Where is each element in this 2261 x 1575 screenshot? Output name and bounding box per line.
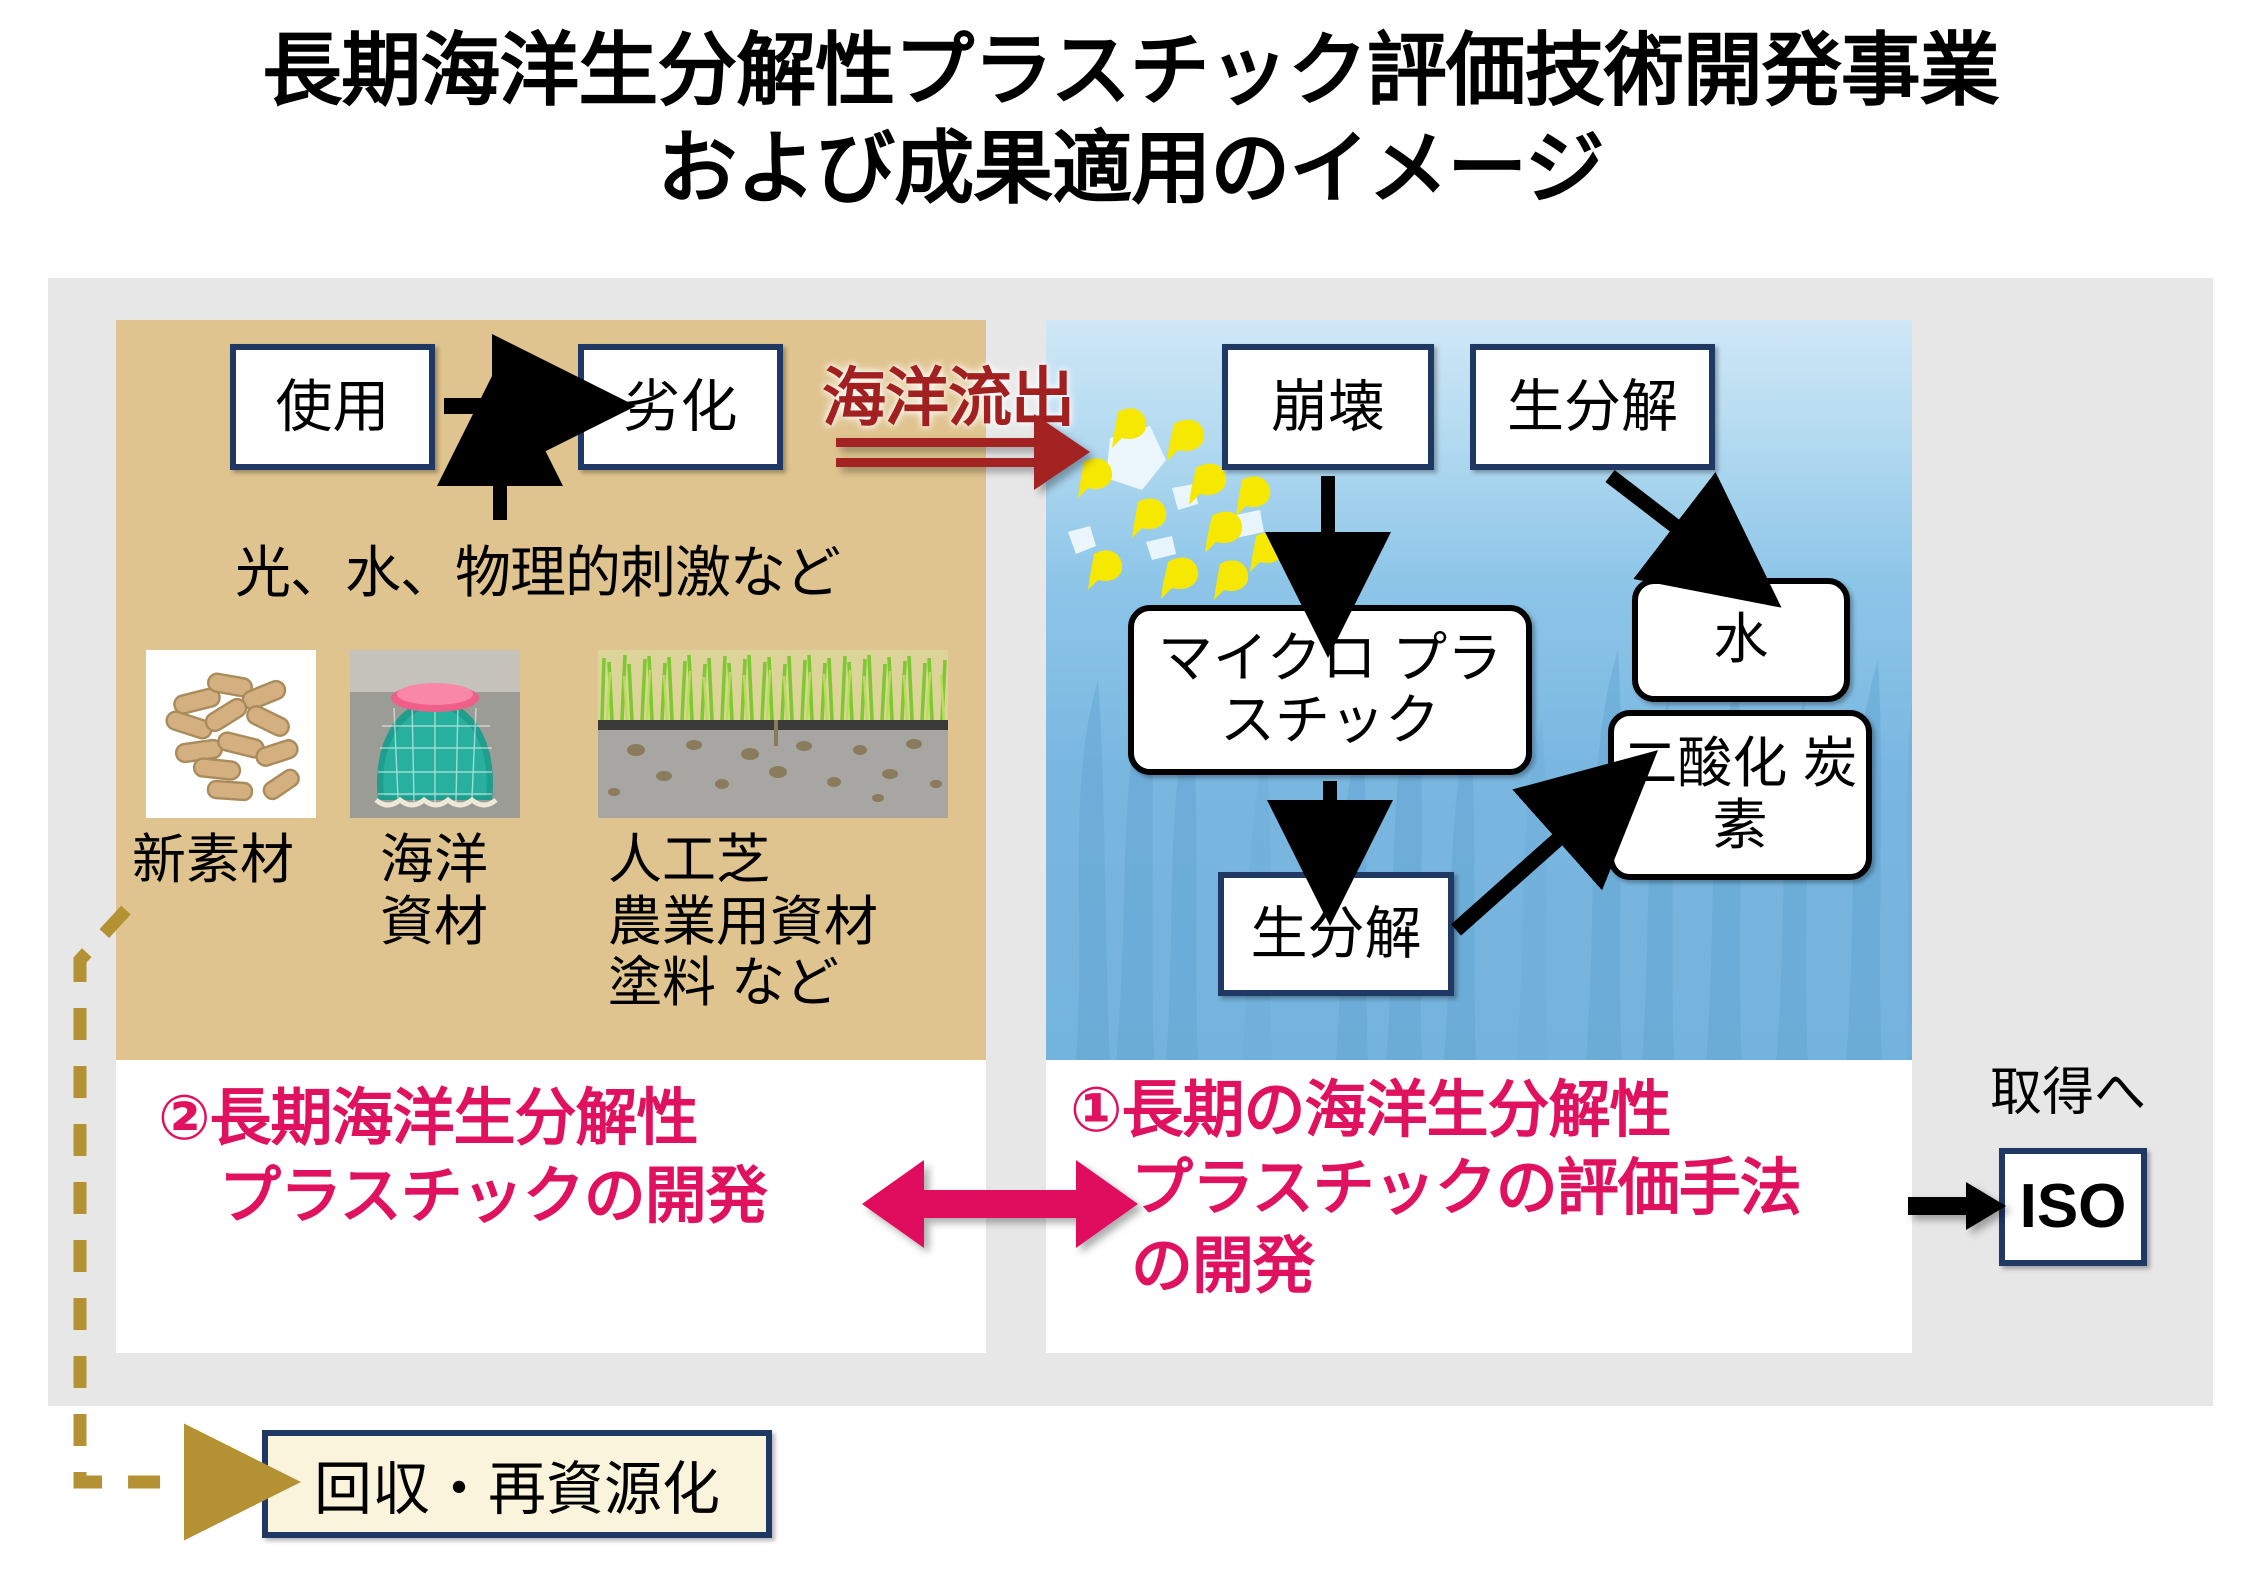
box-biodegradation-top[interactable]: 生分解 <box>1470 344 1715 470</box>
page-title: 長期海洋生分解性プラスチック評価技術開発事業 および成果適用のイメージ <box>0 22 2261 217</box>
box-collapse[interactable]: 崩壊 <box>1222 344 1434 470</box>
box-use[interactable]: 使用 <box>230 344 435 470</box>
degradation-factors-label: 光、水、物理的刺激など <box>235 528 840 609</box>
caption-turf-material: 人工芝 農業用資材 塗料 など <box>608 830 878 1015</box>
artificial-turf-soil-photo <box>598 650 948 818</box>
box-recycle[interactable]: 回収・再資源化 <box>262 1430 772 1538</box>
goal-evaluation-label: ①長期の海洋生分解性 プラスチックの評価手法 の開発 <box>1070 1072 1860 1306</box>
turf-soil-icon <box>598 650 948 818</box>
caption-marine-material: 海洋 資材 <box>380 830 488 953</box>
slide-root: 長期海洋生分解性プラスチック評価技術開発事業 および成果適用のイメージ <box>0 0 2261 1575</box>
ocean-outflow-label: 海洋流出 <box>822 347 1074 439</box>
goal-development-label: ②長期海洋生分解性 プラスチックの開発 <box>158 1080 858 1236</box>
caption-new-material: 新素材 <box>132 830 294 892</box>
box-iso[interactable]: ISO <box>1999 1148 2147 1266</box>
fishing-net-icon <box>350 650 520 818</box>
pellets-icon <box>146 650 316 818</box>
box-water[interactable]: 水 <box>1632 578 1850 702</box>
box-biodegradation-bottom[interactable]: 生分解 <box>1218 872 1454 996</box>
iso-acquire-label: 取得へ <box>1990 1050 2146 1125</box>
box-carbon-dioxide[interactable]: 二酸化 炭素 <box>1608 710 1872 880</box>
box-degrade[interactable]: 劣化 <box>578 344 783 470</box>
pellets-photo <box>146 650 316 818</box>
box-microplastic[interactable]: マイクロ プラスチック <box>1128 605 1532 775</box>
fishing-net-photo <box>350 650 520 818</box>
